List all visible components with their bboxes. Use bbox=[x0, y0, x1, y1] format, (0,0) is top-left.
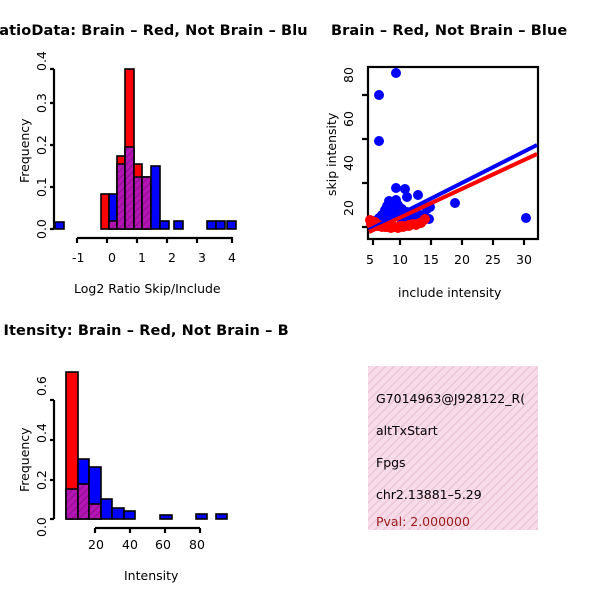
info-line-pval: Pval: 2.000000 bbox=[376, 514, 470, 529]
info-box: G7014963@J928122_R( altTxStart Fpgs chr2… bbox=[368, 366, 538, 530]
hist-intensity-bars bbox=[66, 372, 227, 519]
panel-hist-intensity: ne Itensity: Brain – Red, Not Brain – B … bbox=[0, 300, 300, 600]
panel-hist-ratio: RatioData: Brain – Red, Not Brain – Blu … bbox=[0, 0, 300, 300]
hist-ratio-bars bbox=[55, 69, 236, 229]
info-line-id: G7014963@J928122_R( bbox=[376, 391, 525, 406]
hist-intensity-canvas bbox=[0, 300, 300, 600]
info-line-event-type: altTxStart bbox=[376, 423, 438, 438]
scatter-fit-line-red bbox=[369, 154, 537, 232]
hist-ratio-canvas bbox=[0, 0, 300, 300]
scatter-canvas bbox=[300, 0, 600, 300]
info-line-gene: Fpgs bbox=[376, 455, 406, 470]
info-line-locus: chr2.13881–5.29 bbox=[376, 487, 482, 502]
panel-info: G7014963@J928122_R( altTxStart Fpgs chr2… bbox=[300, 300, 600, 600]
panel-scatter: Brain – Red, Not Brain – Blue skip inten… bbox=[300, 0, 600, 300]
scatter-points-blue bbox=[368, 68, 531, 228]
